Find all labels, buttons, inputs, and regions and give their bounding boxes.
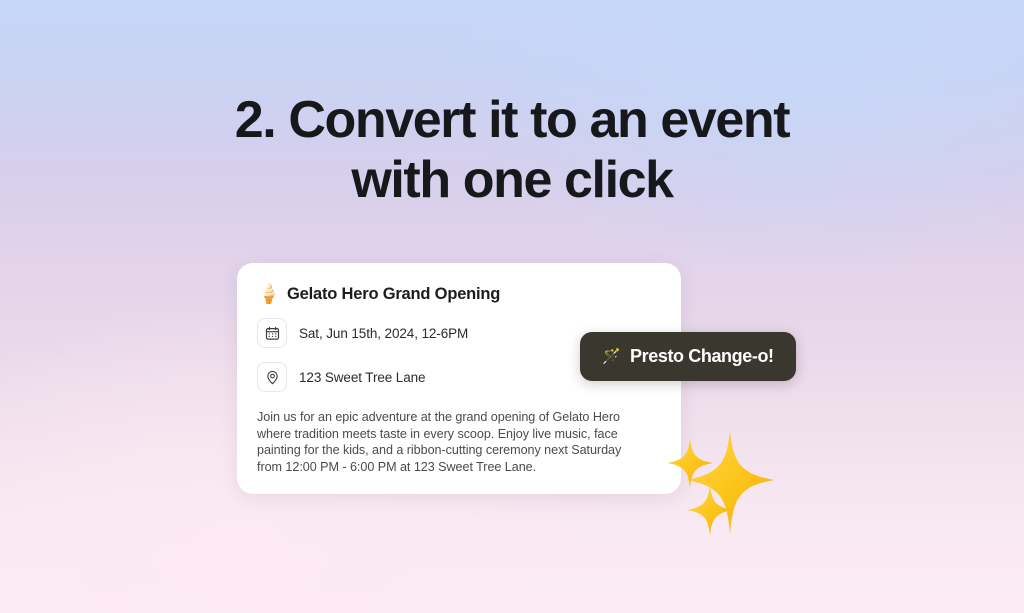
page-title-line-2: with one click: [0, 150, 1024, 210]
presto-change-o-label: Presto Change-o!: [630, 346, 774, 367]
location-pin-icon: [257, 362, 287, 392]
event-location-text: 123 Sweet Tree Lane: [299, 370, 425, 385]
ice-cream-cone-icon: 🍦: [257, 285, 277, 304]
magic-wand-icon: 🪄: [602, 349, 621, 364]
calendar-icon: [257, 318, 287, 348]
event-date-text: Sat, Jun 15th, 2024, 12-6PM: [299, 326, 468, 341]
event-card-title-row: 🍦 Gelato Hero Grand Opening: [257, 285, 661, 304]
page-title: 2. Convert it to an event with one click: [0, 90, 1024, 210]
page-title-line-1: 2. Convert it to an event: [235, 91, 789, 149]
event-description: Join us for an epic adventure at the gra…: [257, 409, 649, 475]
sparkles-emoji: [668, 424, 792, 542]
event-title: Gelato Hero Grand Opening: [287, 285, 500, 304]
presto-change-o-button[interactable]: 🪄 Presto Change-o!: [580, 332, 796, 381]
